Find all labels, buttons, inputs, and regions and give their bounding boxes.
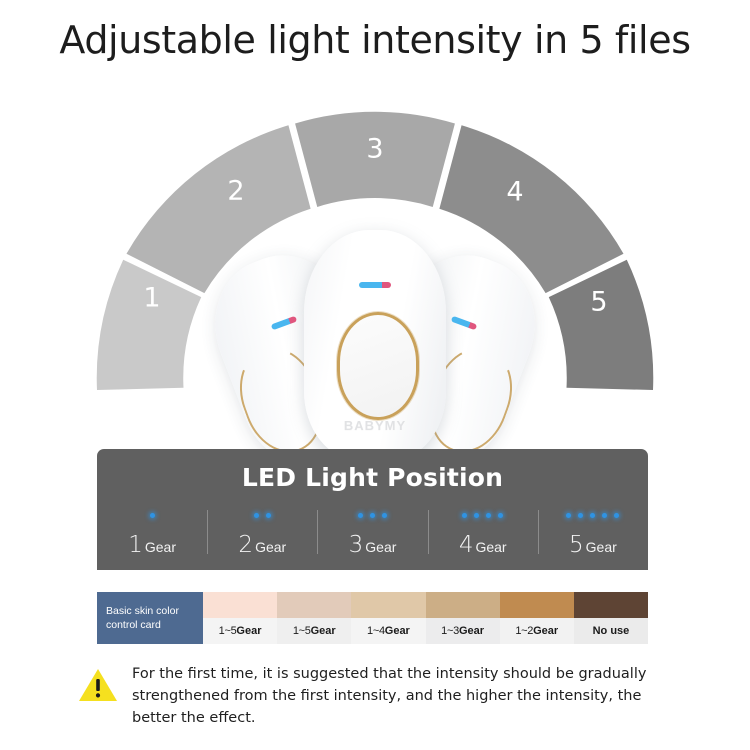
led-gear-cell-1[interactable]: 1Gear (97, 506, 207, 558)
led-gear-word: Gear (255, 539, 286, 555)
skin-range-value: 1~5 (293, 625, 311, 637)
led-panel-title: LED Light Position (97, 449, 648, 498)
arc-label-4: 4 (506, 177, 523, 208)
led-dots-4 (428, 506, 538, 524)
skin-range-label-4: 1~3Gear (426, 618, 500, 644)
warning-triangle-svg (78, 667, 118, 703)
arc-label-2: 2 (227, 176, 244, 207)
skin-range-unit: Gear (459, 625, 484, 637)
skin-range-label-2: 1~5Gear (277, 618, 351, 644)
led-dot (254, 513, 259, 518)
led-dot (358, 513, 363, 518)
led-dot (590, 513, 595, 518)
led-dot (150, 513, 155, 518)
skin-range-value: 1~4 (367, 625, 385, 637)
led-dot (566, 513, 571, 518)
skin-range-label-6: No use (574, 618, 648, 644)
skin-card-label: Basic skin color control card (97, 592, 203, 644)
led-dot (474, 513, 479, 518)
skin-swatch-row: 1~5Gear 1~5Gear 1~4Gear 1~3Gear 1~2Gear (203, 592, 648, 644)
led-dot (382, 513, 387, 518)
skin-range-unit: Gear (236, 625, 261, 637)
led-gear-word: Gear (145, 539, 176, 555)
arc-label-5: 5 (590, 287, 607, 318)
led-dots-3 (317, 506, 427, 524)
led-gear-word: Gear (365, 539, 396, 555)
led-gear-word: Gear (586, 539, 617, 555)
led-light-position-panel: LED Light Position 1Gear 2Gear (97, 449, 648, 570)
skin-card-label-line1: Basic skin color (106, 604, 203, 618)
skin-range-value: No use (593, 625, 630, 637)
led-dot (266, 513, 271, 518)
led-gear-label-4: 4Gear (428, 532, 538, 558)
led-dot (486, 513, 491, 518)
led-gear-word: Gear (475, 539, 506, 555)
led-gear-label-3: 3Gear (317, 532, 427, 558)
skin-range-label-5: 1~2Gear (500, 618, 574, 644)
skin-card-label-line2: control card (106, 618, 203, 632)
warning-note: For the first time, it is suggested that… (78, 663, 678, 729)
led-dots-2 (207, 506, 317, 524)
skin-swatch-2 (277, 592, 351, 618)
skin-swatch-1 (203, 592, 277, 618)
led-dots-5 (538, 506, 648, 524)
skin-range-label-3: 1~4Gear (351, 618, 425, 644)
led-gear-label-5: 5Gear (538, 532, 648, 558)
skin-column-5[interactable]: 1~2Gear (500, 592, 574, 644)
page-title: Adjustable light intensity in 5 files (0, 18, 750, 62)
led-gear-cell-5[interactable]: 5Gear (538, 506, 648, 558)
led-dot (614, 513, 619, 518)
skin-swatch-5 (500, 592, 574, 618)
led-gear-cell-3[interactable]: 3Gear (317, 506, 427, 558)
skin-swatch-6 (574, 592, 648, 618)
device-flash-window (337, 312, 419, 420)
led-gear-row: 1Gear 2Gear 3Gear (97, 498, 648, 570)
led-gear-number: 5 (569, 532, 584, 558)
device-led-strip-center (359, 282, 391, 288)
led-dot (498, 513, 503, 518)
skin-column-1[interactable]: 1~5Gear (203, 592, 277, 644)
led-dot (462, 513, 467, 518)
ipl-device-image: BABYMY (225, 228, 525, 460)
skin-range-label-1: 1~5Gear (203, 618, 277, 644)
skin-column-4[interactable]: 1~3Gear (426, 592, 500, 644)
led-gear-cell-4[interactable]: 4Gear (428, 506, 538, 558)
led-gear-label-1: 1Gear (97, 532, 207, 558)
led-gear-number: 4 (459, 532, 474, 558)
led-gear-number: 1 (128, 532, 143, 558)
skin-range-unit: Gear (385, 625, 410, 637)
skin-range-value: 1~3 (441, 625, 459, 637)
led-gear-cell-2[interactable]: 2Gear (207, 506, 317, 558)
skin-column-6[interactable]: No use (574, 592, 648, 644)
basic-skin-color-control-card: Basic skin color control card 1~5Gear 1~… (97, 592, 648, 644)
skin-range-unit: Gear (311, 625, 336, 637)
warning-text: For the first time, it is suggested that… (132, 663, 678, 729)
device-brand-label: BABYMY (304, 418, 446, 433)
led-gear-number: 2 (238, 532, 253, 558)
skin-swatch-3 (351, 592, 425, 618)
skin-range-unit: Gear (533, 625, 558, 637)
skin-range-value: 1~2 (515, 625, 533, 637)
led-dots-1 (97, 506, 207, 524)
led-dot (602, 513, 607, 518)
skin-swatch-4 (426, 592, 500, 618)
arc-label-1: 1 (143, 283, 160, 314)
led-gear-number: 3 (349, 532, 364, 558)
led-dot (578, 513, 583, 518)
warning-triangle-icon (78, 667, 118, 703)
arc-label-3: 3 (366, 134, 383, 165)
skin-column-3[interactable]: 1~4Gear (351, 592, 425, 644)
skin-column-2[interactable]: 1~5Gear (277, 592, 351, 644)
led-gear-label-2: 2Gear (207, 532, 317, 558)
skin-range-value: 1~5 (219, 625, 237, 637)
led-dot (370, 513, 375, 518)
